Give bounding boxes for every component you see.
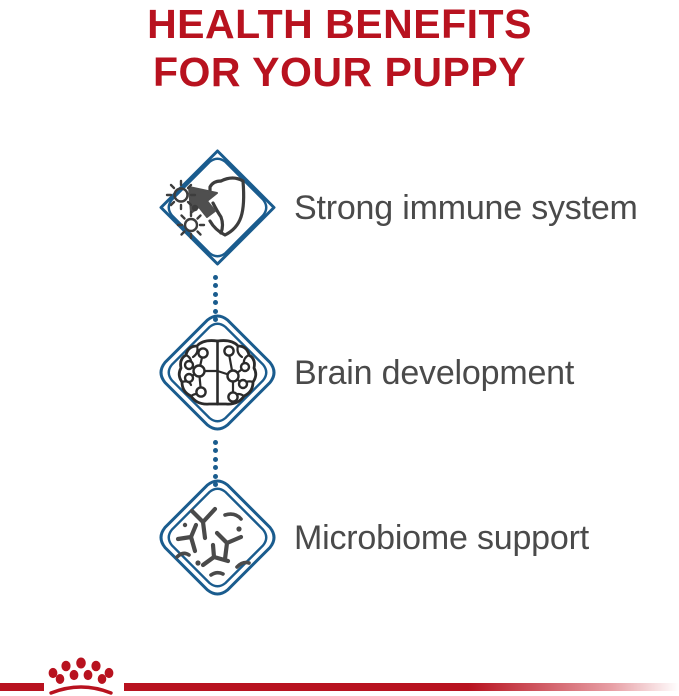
title-line-2: FOR YOUR PUPPY bbox=[0, 48, 679, 96]
brand-bar-right-segment bbox=[124, 683, 679, 691]
connector-dot bbox=[213, 448, 218, 453]
connector-dot bbox=[213, 317, 218, 322]
brand-bar-left-segment bbox=[0, 683, 44, 691]
benefit-row: Strong immune system bbox=[0, 145, 679, 270]
connector-dot bbox=[213, 300, 218, 305]
connector-dotted-line bbox=[212, 275, 218, 322]
connector-dot bbox=[213, 457, 218, 462]
title-line-1: HEALTH BENEFITS bbox=[0, 0, 679, 48]
benefit-row: Brain development bbox=[0, 310, 679, 435]
connector-dot bbox=[213, 474, 218, 479]
microbiome-bacteria-icon bbox=[155, 475, 280, 600]
benefit-label: Microbiome support bbox=[294, 516, 589, 560]
connector-dot bbox=[213, 482, 218, 487]
connector-dotted-line bbox=[212, 440, 218, 487]
connector-dot bbox=[213, 440, 218, 445]
connector-dot bbox=[213, 283, 218, 288]
benefits-list: Strong immune system bbox=[0, 145, 679, 600]
page-title: HEALTH BENEFITS FOR YOUR PUPPY bbox=[0, 0, 679, 96]
benefit-label: Strong immune system bbox=[294, 186, 638, 230]
benefit-label: Brain development bbox=[294, 351, 574, 395]
brain-network-icon bbox=[155, 310, 280, 435]
shield-immune-icon bbox=[155, 145, 280, 270]
connector-dot bbox=[213, 309, 218, 314]
connector-dot bbox=[213, 292, 218, 297]
benefit-row: Microbiome support bbox=[0, 475, 679, 600]
connector-dot bbox=[213, 275, 218, 280]
royal-canin-crown-logo bbox=[47, 657, 115, 696]
connector-dot bbox=[213, 465, 218, 470]
